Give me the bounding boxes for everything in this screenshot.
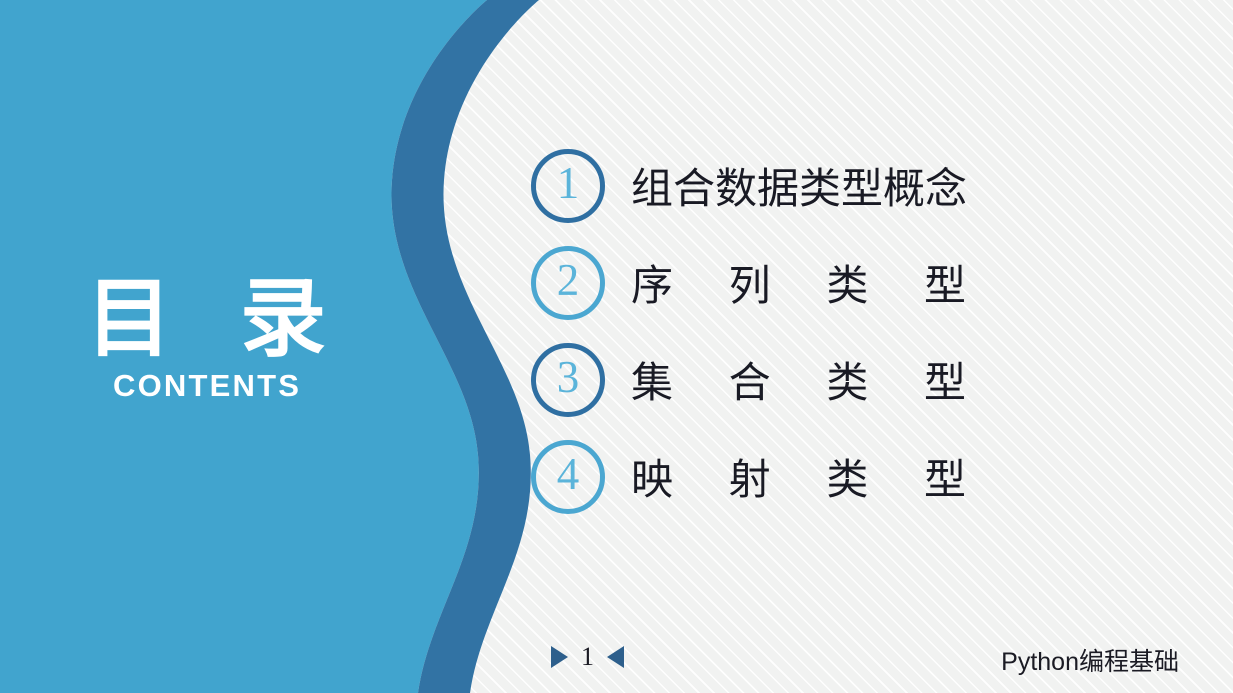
contents-number-3: 3 [557, 355, 580, 400]
footer-pager: 1 [551, 644, 624, 670]
contents-list: 1 组合数据类型概念 2 序 列 类 型 3 集 合 类 型 4 映 射 类 型 [531, 146, 988, 516]
contents-label-1: 组合数据类型概念 [631, 155, 967, 216]
contents-label-2: 序 列 类 型 [631, 252, 988, 313]
contents-number-badge-2: 2 [531, 246, 605, 320]
contents-number-2: 2 [557, 258, 580, 303]
slide-canvas: 目 录 CONTENTS 1 组合数据类型概念 2 序 列 类 型 3 集 合 … [0, 0, 1233, 693]
contents-item-3[interactable]: 3 集 合 类 型 [531, 340, 988, 419]
contents-number-badge-3: 3 [531, 343, 605, 417]
contents-number-4: 4 [557, 452, 580, 497]
contents-number-1: 1 [557, 161, 580, 206]
footer-brand: Python编程基础 [1001, 642, 1179, 678]
contents-number-badge-4: 4 [531, 440, 605, 514]
contents-label-3: 集 合 类 型 [631, 349, 988, 410]
triangle-left-icon[interactable] [607, 646, 624, 668]
contents-item-1[interactable]: 1 组合数据类型概念 [531, 146, 988, 225]
contents-label-4: 映 射 类 型 [631, 446, 988, 507]
contents-item-2[interactable]: 2 序 列 类 型 [531, 243, 988, 322]
contents-number-badge-1: 1 [531, 149, 605, 223]
contents-item-4[interactable]: 4 映 射 类 型 [531, 437, 988, 516]
page-number: 1 [581, 644, 594, 670]
triangle-right-icon[interactable] [551, 646, 568, 668]
